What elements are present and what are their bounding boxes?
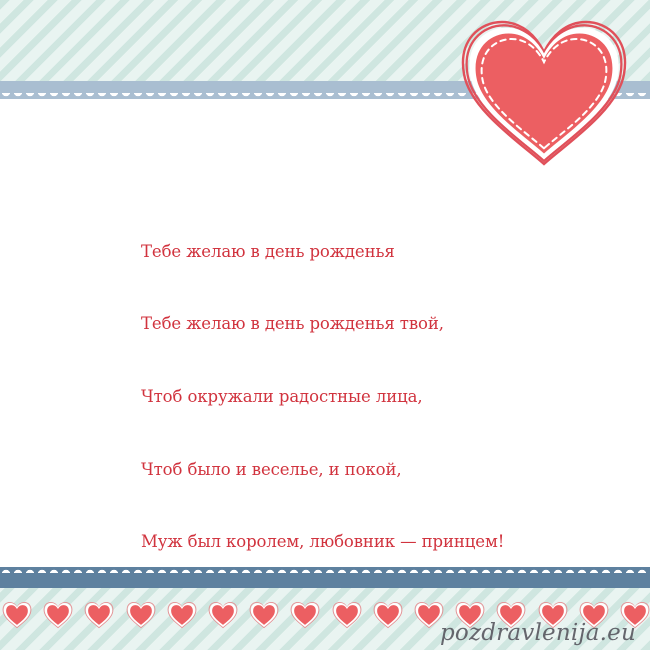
heart-icon xyxy=(373,600,403,630)
bottom-blue-band xyxy=(0,573,650,588)
heart-icon xyxy=(290,600,320,630)
poem-line: Тебе желаю в день рожденья твой, xyxy=(141,312,561,336)
heart-icon xyxy=(84,600,114,630)
poem-line: Муж был королем, любовник — принцем! xyxy=(141,530,561,554)
greeting-card: Тебе желаю в день рожденья Тебе желаю в … xyxy=(0,0,650,650)
heart-icon xyxy=(2,600,32,630)
poem-line: Тебе желаю в день рожденья xyxy=(141,240,561,264)
heart-icon xyxy=(249,600,279,630)
poem-stanza-1: Тебе желаю в день рожденья Тебе желаю в … xyxy=(141,191,561,602)
poem-line: Чтоб было и веселье, и покой, xyxy=(141,458,561,482)
heart-icon xyxy=(208,600,238,630)
heart-icon xyxy=(332,600,362,630)
watermark: pozdravlenija.eu xyxy=(440,620,636,646)
heart-icon xyxy=(126,600,156,630)
heart-icon xyxy=(167,600,197,630)
poem-line: Чтоб окружали радостные лица, xyxy=(141,385,561,409)
heart-icon xyxy=(43,600,73,630)
